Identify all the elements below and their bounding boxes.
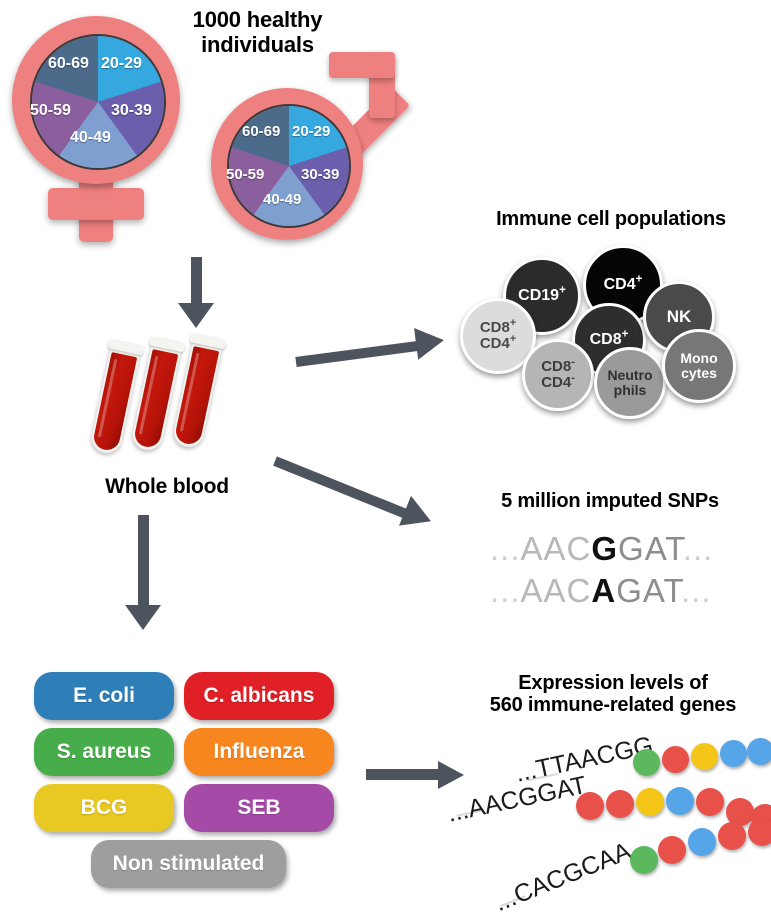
rna-bead <box>658 836 686 864</box>
immune-cell-neutrophils: Neutrophils <box>594 347 666 419</box>
immune-cell-label: Neutrophils <box>607 368 652 397</box>
male-pie-label-60-69: 60-69 <box>242 123 280 140</box>
snp-variant-allele: A <box>591 572 616 609</box>
stimulus-label: SEB <box>237 796 280 820</box>
snp-pre: AAC <box>521 572 592 609</box>
arrow-head <box>399 496 437 536</box>
immune-cell-label: CD4+ <box>604 277 643 294</box>
rna-bead <box>662 746 689 773</box>
female-symbol: 20-29 30-39 40-49 50-59 60-69 <box>8 10 183 245</box>
pie-label-60-69: 60-69 <box>48 55 89 73</box>
arrow-shaft <box>273 456 414 521</box>
snp-variant-allele: G <box>591 530 618 567</box>
arrow-shaft <box>366 769 442 780</box>
snp-pre: AAC <box>521 530 592 567</box>
arrow-head <box>125 605 161 630</box>
stimulus-label: C. albicans <box>204 684 315 708</box>
page-title-line1: 1000 healthy <box>160 8 355 33</box>
immune-cell-populations-title: Immune cell populations <box>458 208 764 230</box>
immune-cell-label: NK <box>667 308 692 326</box>
arrow-head <box>414 324 446 359</box>
male-pie-label-40-49: 40-49 <box>263 191 301 208</box>
female-cross-horizontal <box>48 188 144 220</box>
snp-sequence-row-1: ...AACGGAT... <box>490 530 713 568</box>
rna-bead <box>720 740 747 767</box>
rna-sequence: ...CACGCAA <box>491 837 636 918</box>
rna-bead <box>718 822 746 850</box>
rna-bead <box>636 788 664 816</box>
male-pie-label-30-39: 30-39 <box>301 166 339 183</box>
immune-cell-label: CD8+CD4+ <box>480 320 516 351</box>
expression-title-line1: Expression levels of <box>458 672 768 694</box>
pie-label-40-49: 40-49 <box>70 129 111 147</box>
immune-cell-label: Monocytes <box>680 351 717 380</box>
stimulus-s-aureus[interactable]: S. aureus <box>34 728 174 776</box>
snp-post: GAT <box>618 530 683 567</box>
immune-cell-cluster: CD19+ CD4+ CD8+CD4+ CD8+ NK CD8-CD4- Neu… <box>460 245 760 410</box>
rna-sequence: ...AACGGAT <box>445 771 589 829</box>
stimulus-influenza[interactable]: Influenza <box>184 728 334 776</box>
stimulus-label: Non stimulated <box>113 852 265 876</box>
stimulus-e-coli[interactable]: E. coli <box>34 672 174 720</box>
pie-label-30-39: 30-39 <box>111 102 152 120</box>
stimulus-c-albicans[interactable]: C. albicans <box>184 672 334 720</box>
rna-strands: ...TTAACGG ...AACGGAT ...CACGCAA <box>448 740 768 915</box>
arrow-shaft <box>295 341 420 367</box>
male-symbol: 20-29 30-39 40-49 50-59 60-69 <box>205 30 420 250</box>
stimulus-bcg[interactable]: BCG <box>34 784 174 832</box>
expression-title: Expression levels of 560 immune-related … <box>458 672 768 717</box>
rna-bead <box>691 743 718 770</box>
immune-cell-monocytes: Monocytes <box>662 329 736 403</box>
arrow-head <box>178 303 214 328</box>
pie-label-50-59: 50-59 <box>30 102 71 120</box>
blood-tubes <box>112 337 272 467</box>
stimulus-label: BCG <box>81 796 128 820</box>
rna-bead <box>630 846 658 874</box>
snp-prefix: ... <box>490 530 521 567</box>
snp-post: GAT <box>616 572 681 609</box>
snp-prefix: ... <box>490 572 521 609</box>
stimulus-label: E. coli <box>73 684 135 708</box>
immune-cell-label: CD19+ <box>518 288 566 305</box>
snps-title: 5 million imputed SNPs <box>470 490 750 512</box>
immune-cell-label: CD8-CD4- <box>541 359 575 390</box>
male-arrow-head-horizontal <box>329 52 395 78</box>
rna-strand-3: ...CACGCAA <box>448 822 768 912</box>
rna-bead <box>688 828 716 856</box>
rna-bead <box>748 818 771 846</box>
stimulus-label: Influenza <box>213 740 304 764</box>
stimulus-label: S. aureus <box>57 740 152 764</box>
stimuli-grid: E. coli C. albicans S. aureus Influenza … <box>34 672 334 892</box>
rna-bead <box>747 738 771 765</box>
stimulus-seb[interactable]: SEB <box>184 784 334 832</box>
whole-blood-label: Whole blood <box>82 475 252 499</box>
rna-bead <box>666 787 694 815</box>
pie-label-20-29: 20-29 <box>101 55 142 73</box>
expression-title-line2: 560 immune-related genes <box>458 694 768 716</box>
rna-bead <box>696 788 724 816</box>
rna-bead <box>606 790 634 818</box>
snp-sequence-row-2: ...AACAGAT... <box>490 572 711 610</box>
immune-cell-cd8-cd4-double-negative: CD8-CD4- <box>522 339 594 411</box>
snp-suffix: ... <box>683 530 714 567</box>
arrow-shaft <box>138 515 149 610</box>
arrow-shaft <box>191 257 202 309</box>
male-pie-label-50-59: 50-59 <box>226 166 264 183</box>
rna-bead <box>576 792 604 820</box>
snp-suffix: ... <box>681 572 712 609</box>
male-pie-label-20-29: 20-29 <box>292 123 330 140</box>
stimulus-non-stimulated[interactable]: Non stimulated <box>91 840 286 888</box>
immune-cell-label: CD8+ <box>590 332 629 349</box>
rna-bead <box>633 749 660 776</box>
